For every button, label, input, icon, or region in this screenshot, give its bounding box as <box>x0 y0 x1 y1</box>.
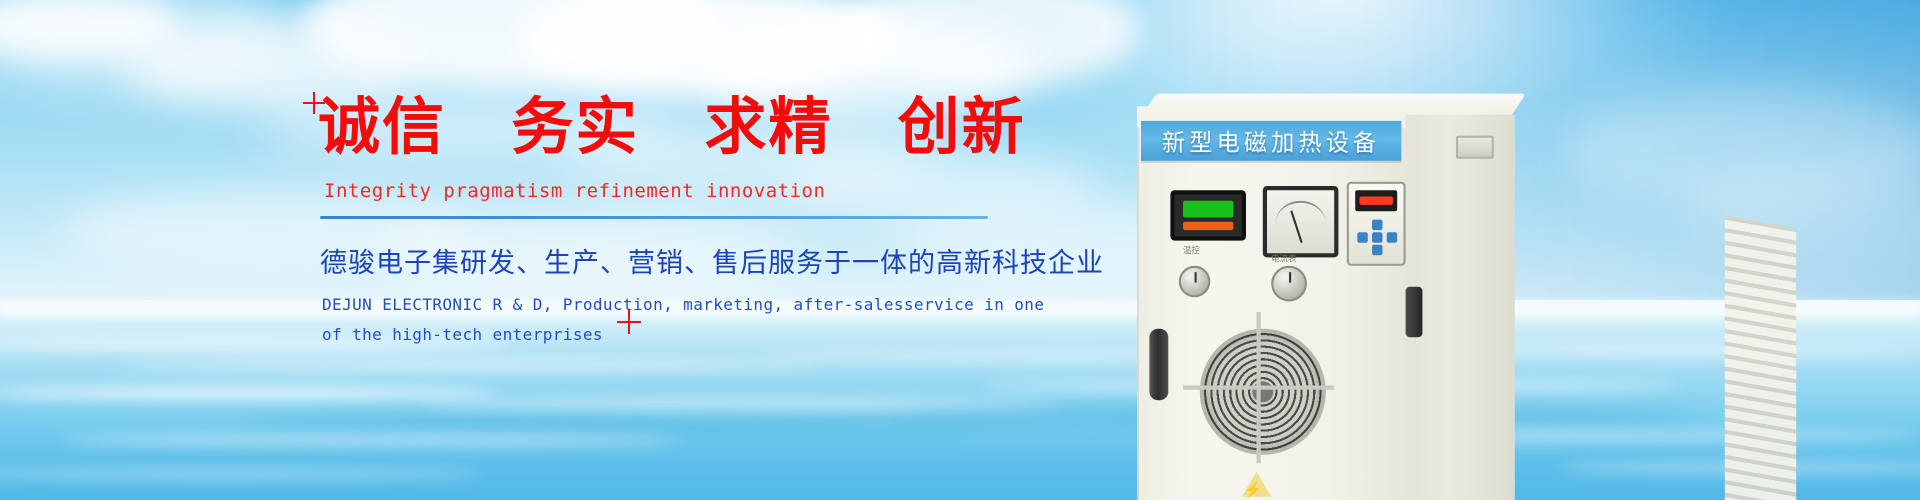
keypad-button-enter <box>1372 232 1383 243</box>
description-line-2: of the high-tech enterprises <box>322 320 1018 350</box>
rotary-knob <box>1271 266 1307 302</box>
headline-word-2: 务实 <box>511 96 639 158</box>
exhaust-fan-grille <box>1200 329 1326 455</box>
keypad-button-up <box>1372 220 1383 231</box>
keypad-button-right <box>1387 232 1398 243</box>
keypad-screen <box>1355 190 1397 211</box>
tagline: 德骏电子集研发、生产、营销、售后服务于一体的高新科技企业 <box>320 241 1018 280</box>
gauge-scale <box>1275 201 1325 224</box>
description-block: DEJUN ELECTRONIC R & D, Production, mark… <box>322 290 1018 351</box>
product-photo-heating-machine: 新型电磁加热设备 温控 电流表 <box>1120 60 1540 460</box>
digital-readout-display <box>1170 190 1246 240</box>
product-name-label: 新型电磁加热设备 <box>1162 124 1380 158</box>
headline: 诚信 务实 求精 创新 <box>318 96 1018 158</box>
side-badge <box>1456 136 1494 159</box>
side-latch-handle <box>1406 287 1423 337</box>
cabinet-door-handle <box>1149 329 1168 400</box>
keypad-buttons <box>1357 220 1395 256</box>
headline-word-4: 创新 <box>898 96 1026 158</box>
water-wave <box>120 360 820 370</box>
description-line-1: DEJUN ELECTRONIC R & D, Production, mark… <box>322 290 1018 320</box>
readout-secondary-value <box>1183 222 1233 230</box>
headline-word-1: 诚信 <box>318 96 446 158</box>
divider-rule <box>320 216 988 219</box>
product-name-banner: 新型电磁加热设备 <box>1141 121 1401 161</box>
fan-hub <box>1252 381 1273 402</box>
subheadline: Integrity pragmatism refinement innovati… <box>324 180 1018 202</box>
water-wave <box>420 398 1060 410</box>
analog-ammeter-gauge <box>1263 186 1339 257</box>
meter-caption: 电流表 <box>1271 253 1296 266</box>
warning-bolt-glyph: ⚡ <box>1244 484 1262 499</box>
keypad-button-down <box>1372 245 1383 256</box>
water-wave <box>0 386 500 400</box>
selector-knob <box>1179 266 1211 298</box>
keypad-button-left <box>1357 232 1368 243</box>
headline-word-3: 求精 <box>704 96 832 158</box>
readout-primary-value <box>1183 201 1233 218</box>
fan-bracket-vertical <box>1257 312 1261 463</box>
water-wave-shadow <box>240 418 1000 432</box>
water-wave <box>60 434 680 446</box>
banner-copy-block: 诚信 务实 求精 创新 Integrity pragmatism refinem… <box>318 96 1018 351</box>
control-keypad <box>1347 182 1406 266</box>
ventilation-louvers <box>1725 215 1796 500</box>
promotional-banner: 诚信 务实 求精 创新 Integrity pragmatism refinem… <box>0 0 1920 500</box>
display-caption: 温控 <box>1183 245 1200 258</box>
